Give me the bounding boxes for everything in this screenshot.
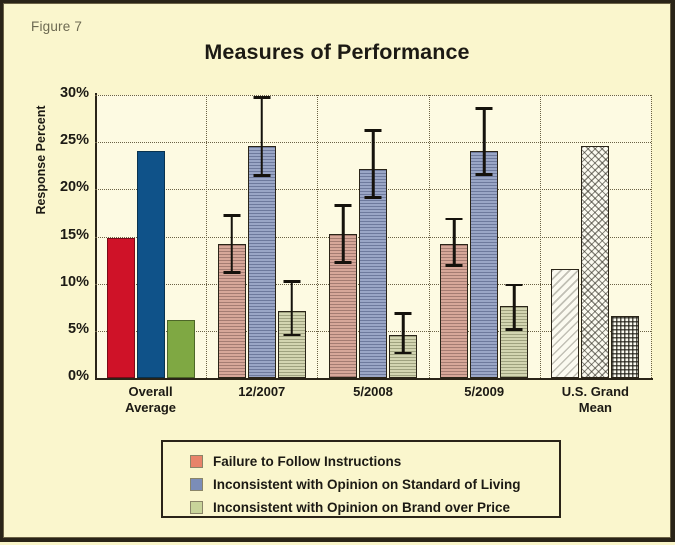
gridline-vertical — [540, 95, 541, 378]
x-tick-label: U.S. GrandMean — [535, 384, 655, 416]
legend-item: Failure to Follow Instructions — [190, 451, 559, 472]
chart-legend: Failure to Follow InstructionsInconsiste… — [161, 440, 561, 518]
bar — [581, 146, 609, 378]
y-axis-tick-labels: 30%25%20%15%10%5%0% — [25, 3, 89, 545]
y-tick-label: 5% — [33, 321, 89, 337]
x-tick-label-line1: 12/2007 — [238, 384, 285, 399]
x-tick-label: 5/2008 — [313, 384, 433, 400]
bar — [500, 306, 528, 378]
x-tick-label: 12/2007 — [202, 384, 322, 400]
bar — [359, 169, 387, 378]
gridline-vertical — [317, 95, 318, 378]
bar — [218, 244, 246, 378]
bar — [611, 316, 639, 378]
legend-item: Inconsistent with Opinion on Brand over … — [190, 497, 559, 518]
bar — [137, 151, 165, 378]
legend-label: Inconsistent with Opinion on Standard of… — [213, 477, 521, 492]
y-tick-label: 25% — [33, 132, 89, 148]
x-tick-label-line1: 5/2009 — [464, 384, 504, 399]
y-tick-label: 0% — [33, 368, 89, 384]
figure-container: Figure 7 Measures of Performance Respons… — [0, 0, 675, 542]
x-tick-label-line1: U.S. Grand — [562, 384, 629, 399]
x-tick-label: OverallAverage — [91, 384, 211, 416]
y-tick-label: 15% — [33, 227, 89, 243]
legend-swatch — [190, 478, 203, 491]
x-tick-label-line2: Mean — [579, 400, 612, 415]
chart-title: Measures of Performance — [3, 40, 671, 65]
gridline-horizontal — [95, 142, 651, 143]
plot-frame-top — [95, 95, 651, 96]
x-tick-label-line1: Overall — [129, 384, 173, 399]
bar — [248, 146, 276, 378]
bar — [551, 269, 579, 378]
bar — [278, 311, 306, 378]
bar — [470, 151, 498, 378]
legend-label: Inconsistent with Opinion on Brand over … — [213, 500, 510, 515]
y-tick-label: 30% — [33, 85, 89, 101]
x-tick-label-line1: 5/2008 — [353, 384, 393, 399]
bar — [167, 320, 195, 378]
x-tick-label: 5/2009 — [424, 384, 544, 400]
gridline-vertical — [206, 95, 207, 378]
x-axis-line — [95, 378, 653, 380]
legend-swatch — [190, 455, 203, 468]
plot-frame-right — [651, 95, 652, 378]
gridline-vertical — [429, 95, 430, 378]
x-tick-label-line2: Average — [125, 400, 176, 415]
legend-item: Inconsistent with Opinion on Standard of… — [190, 474, 559, 495]
bar — [107, 238, 135, 378]
bar — [329, 234, 357, 378]
bar — [389, 335, 417, 378]
y-tick-label: 20% — [33, 179, 89, 195]
bar — [440, 244, 468, 378]
legend-swatch — [190, 501, 203, 514]
y-tick-label: 10% — [33, 274, 89, 290]
legend-label: Failure to Follow Instructions — [213, 454, 401, 469]
